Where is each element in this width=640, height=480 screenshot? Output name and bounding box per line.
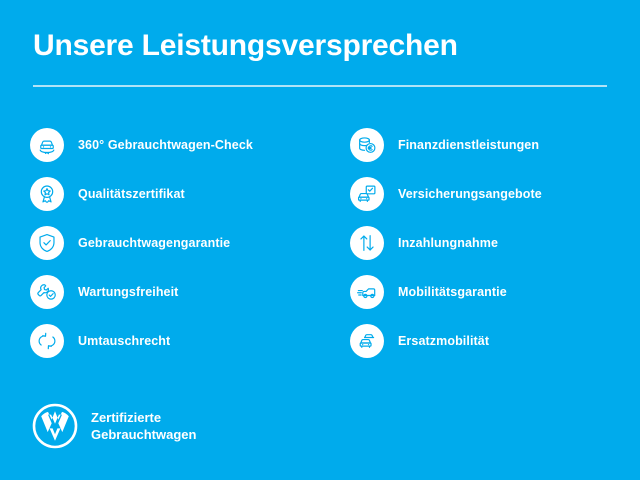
- benefit-item: Qualitätszertifikat: [30, 169, 320, 218]
- benefit-item: Mobilitätsgarantie: [350, 267, 640, 316]
- benefit-label: Inzahlungnahme: [398, 236, 498, 250]
- vw-logo-icon: [31, 402, 79, 450]
- benefit-item: Umtauschrecht: [30, 316, 320, 365]
- wrench-check-icon: [30, 275, 64, 309]
- benefits-right-column: Finanzdienstleistungen Versicherungsange…: [320, 120, 640, 365]
- footer-branding: Zertifizierte Gebrauchtwagen: [31, 402, 196, 450]
- benefit-item: Gebrauchtwagengarantie: [30, 218, 320, 267]
- benefit-label: Versicherungsangebote: [398, 187, 542, 201]
- benefit-item: Ersatzmobilität: [350, 316, 640, 365]
- benefit-label: Qualitätszertifikat: [78, 187, 185, 201]
- benefit-item: Wartungsfreiheit: [30, 267, 320, 316]
- title-divider: [33, 85, 607, 87]
- benefit-label: Umtauschrecht: [78, 334, 170, 348]
- vw-logo-line2: Gebrauchtwagen: [91, 426, 196, 443]
- benefit-label: Mobilitätsgarantie: [398, 285, 507, 299]
- award-rosette-icon: [30, 177, 64, 211]
- van-motion-icon: [350, 275, 384, 309]
- up-down-arrows-icon: [350, 226, 384, 260]
- benefit-label: Finanzdienstleistungen: [398, 138, 539, 152]
- page-title: Unsere Leistungsversprechen: [33, 28, 607, 64]
- benefits-left-column: 360° Gebrauchtwagen-Check Qualitätszerti…: [0, 120, 320, 365]
- benefit-item: Inzahlungnahme: [350, 218, 640, 267]
- benefit-item: Finanzdienstleistungen: [350, 120, 640, 169]
- vw-logo-text: Zertifizierte Gebrauchtwagen: [91, 409, 196, 443]
- car-360-check-icon: [30, 128, 64, 162]
- benefit-item: Versicherungsangebote: [350, 169, 640, 218]
- promise-poster: Unsere Leistungsversprechen 360° Gebrauc…: [0, 0, 640, 480]
- car-document-check-icon: [350, 177, 384, 211]
- benefit-label: Gebrauchtwagengarantie: [78, 236, 230, 250]
- benefits-columns: 360° Gebrauchtwagen-Check Qualitätszerti…: [0, 120, 640, 365]
- two-cars-icon: [350, 324, 384, 358]
- shield-check-icon: [30, 226, 64, 260]
- vw-logo-line1: Zertifizierte: [91, 409, 196, 426]
- coins-euro-icon: [350, 128, 384, 162]
- poster-header: Unsere Leistungsversprechen: [33, 28, 607, 64]
- benefit-label: Ersatzmobilität: [398, 334, 489, 348]
- benefit-label: Wartungsfreiheit: [78, 285, 178, 299]
- exchange-arrows-icon: [30, 324, 64, 358]
- benefit-label: 360° Gebrauchtwagen-Check: [78, 138, 253, 152]
- benefit-item: 360° Gebrauchtwagen-Check: [30, 120, 320, 169]
